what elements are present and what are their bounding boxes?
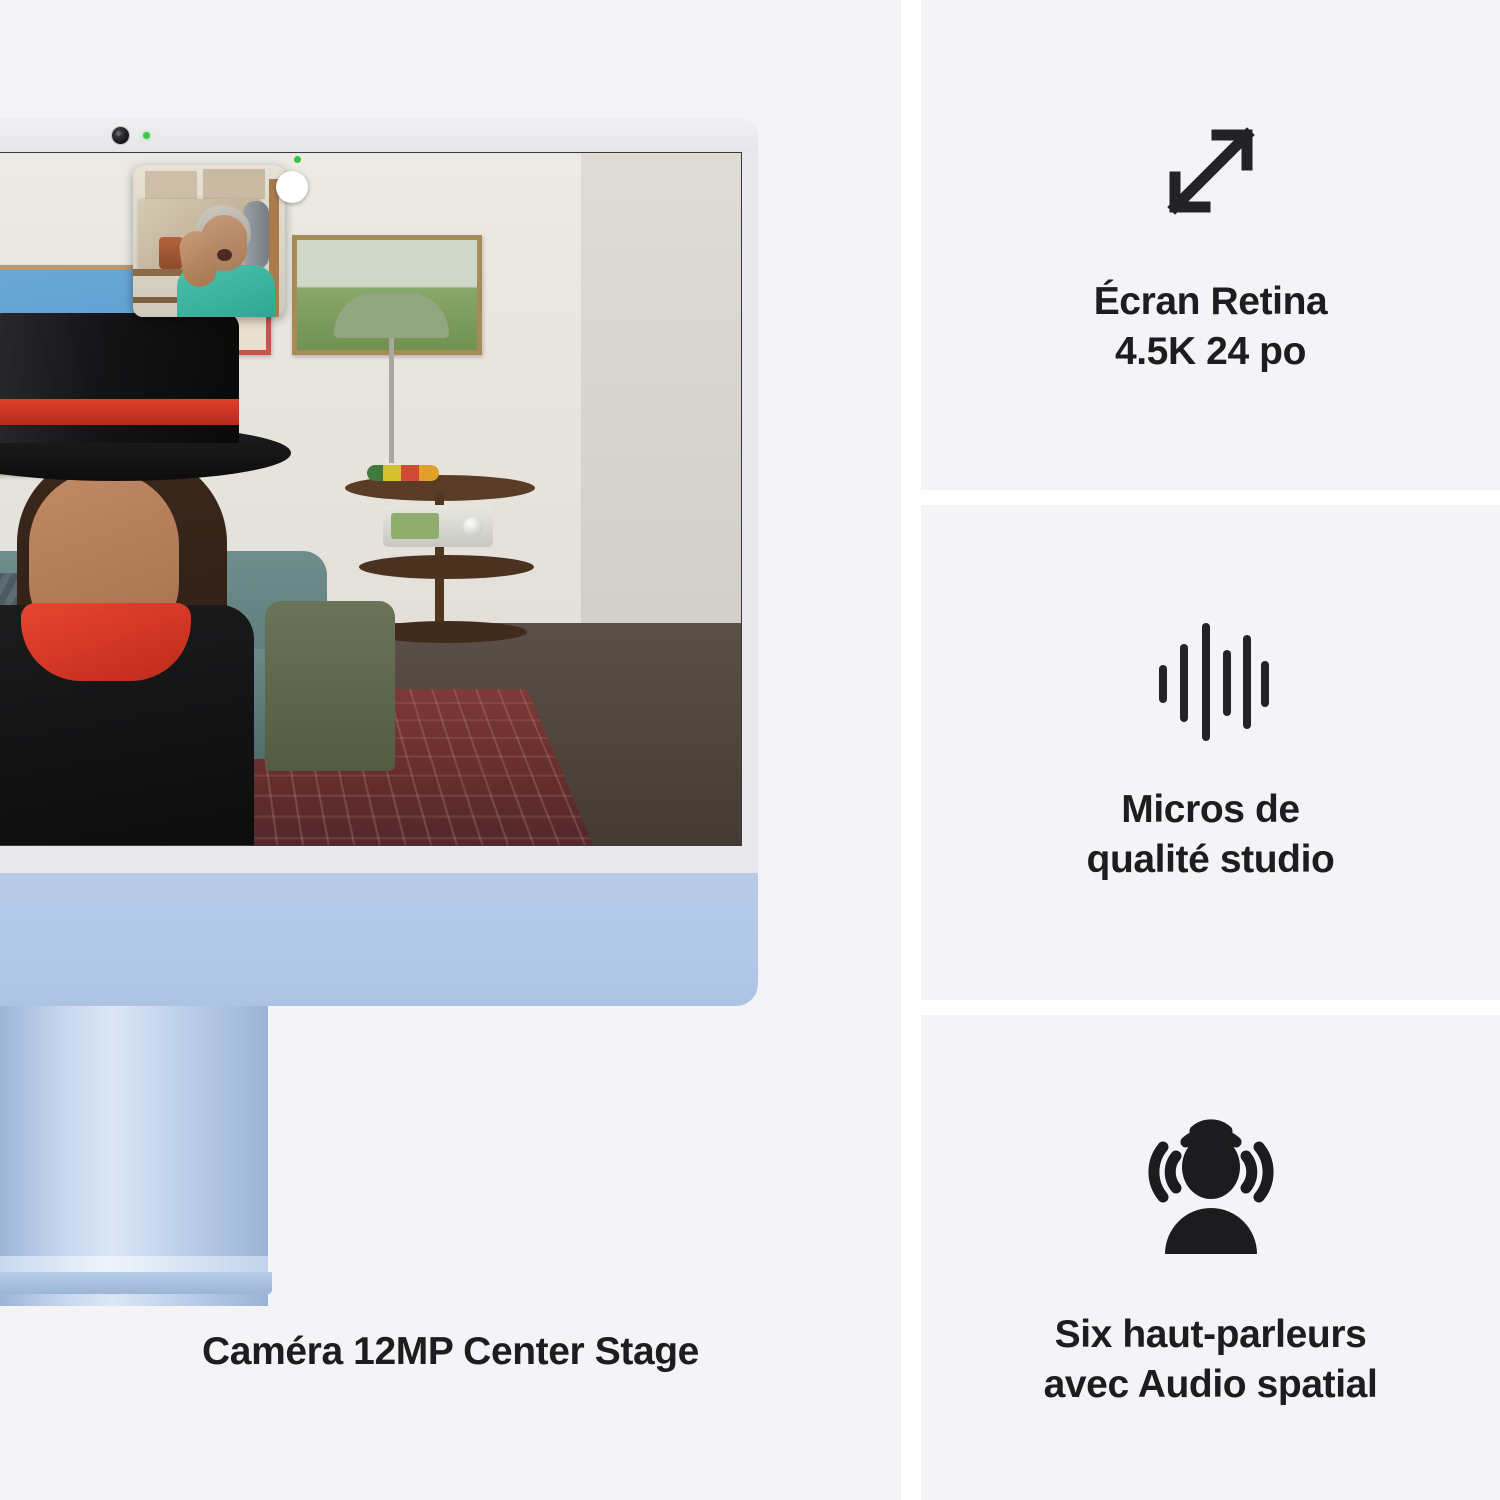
speakers-label-line-2: avec Audio spatial xyxy=(1044,1360,1378,1410)
camera-feature-panel: Caméra 12MP Center Stage xyxy=(0,0,901,1500)
imac-stand-highlight xyxy=(0,1256,268,1272)
table-lamp-pole xyxy=(389,328,394,463)
green-camera-led-icon xyxy=(143,132,150,139)
facetime-round-button[interactable] xyxy=(276,171,308,203)
feature-card-speakers[interactable]: Six haut-parleurs avec Audio spatial xyxy=(921,1015,1500,1500)
feature-card-microphones[interactable]: Micros de qualité studio xyxy=(921,505,1500,1000)
feature-card-microphones-label: Micros de qualité studio xyxy=(1087,785,1335,884)
mic-label-line-2: qualité studio xyxy=(1087,835,1335,885)
imac-display-housing xyxy=(0,118,758,873)
pip-wall-art-upper-right xyxy=(203,169,265,199)
armchair xyxy=(265,601,395,771)
top-hat-red-band xyxy=(0,399,239,425)
table-lamp-dome xyxy=(334,293,449,338)
camera-lens-icon xyxy=(112,127,129,144)
speakers-label-line-1: Six haut-parleurs xyxy=(1044,1310,1378,1360)
display-label-line-1: Écran Retina xyxy=(1094,277,1328,327)
vintage-radio xyxy=(383,505,493,547)
spatial-audio-person-icon xyxy=(1132,1106,1290,1254)
feature-card-display-label: Écran Retina 4.5K 24 po xyxy=(1094,277,1328,376)
expand-diagonal-arrows-icon xyxy=(1147,113,1275,235)
pip-wall-art-upper-left xyxy=(145,171,197,199)
audio-waveform-icon xyxy=(1151,621,1271,743)
display-label-line-2: 4.5K 24 po xyxy=(1094,327,1328,377)
feature-card-speakers-label: Six haut-parleurs avec Audio spatial xyxy=(1044,1310,1378,1409)
facetime-video-scene xyxy=(0,153,741,845)
feature-card-display[interactable]: Écran Retina 4.5K 24 po xyxy=(921,0,1500,490)
imac-product-image xyxy=(0,118,760,1238)
page-root: Caméra 12MP Center Stage Écran Retina 4.… xyxy=(0,0,1500,1500)
self-view-thumbnail[interactable] xyxy=(133,165,285,317)
fruit-bowl xyxy=(367,465,439,481)
imac-stand-foot xyxy=(0,1272,272,1294)
pip-person-mouth xyxy=(217,249,232,261)
imac-screen xyxy=(0,152,742,846)
camera-caption: Caméra 12MP Center Stage xyxy=(0,1330,901,1374)
imac-chin xyxy=(0,873,758,1006)
mic-label-line-1: Micros de xyxy=(1087,785,1335,835)
girl-red-collar xyxy=(21,603,191,681)
feature-cards-column: Écran Retina 4.5K 24 po Micros de qualit… xyxy=(921,0,1500,1500)
side-table-middle-shelf xyxy=(359,555,534,579)
pip-green-led-icon xyxy=(294,156,301,163)
